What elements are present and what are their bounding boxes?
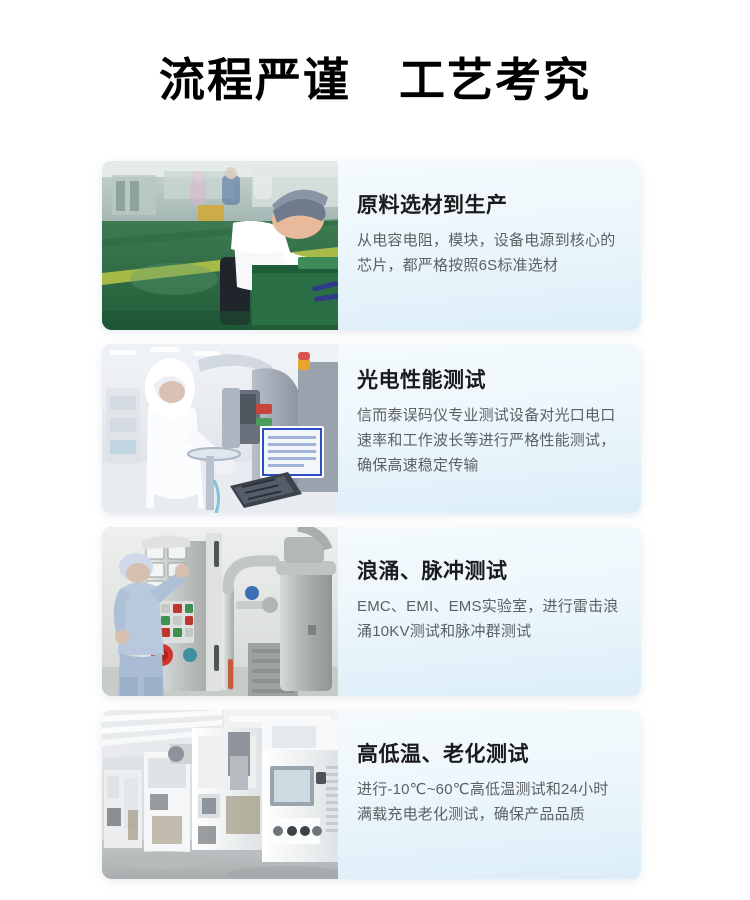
card-body: 从电容电阻，模块，设备电源到核心的芯片，都严格按照6S标准选材 bbox=[357, 228, 621, 278]
photo-surge-pulse-lab bbox=[102, 527, 338, 696]
aging-chambers-illustration bbox=[102, 710, 338, 879]
photo-assembly-line-worker bbox=[102, 161, 338, 330]
cleanroom-illustration bbox=[102, 344, 338, 513]
card-text-block: 浪涌、脉冲测试 EMC、EMI、EMS实验室，进行雷击浪涌10KV测试和脉冲群测… bbox=[338, 527, 641, 696]
card-text-block: 光电性能测试 信而泰误码仪专业测试设备对光口电口速率和工作波长等进行严格性能测试… bbox=[338, 344, 641, 513]
photo-cleanroom-optical-test bbox=[102, 344, 338, 513]
page-title: 流程严谨 工艺考究 bbox=[0, 50, 750, 110]
assembly-line-illustration bbox=[102, 161, 338, 330]
photo-aging-test-chambers bbox=[102, 710, 338, 879]
process-card-list: 原料选材到生产 从电容电阻，模块，设备电源到核心的芯片，都严格按照6S标准选材 bbox=[102, 161, 641, 879]
quality-process-page: 流程严谨 工艺考究 bbox=[0, 0, 750, 900]
card-body: 进行-10℃~60℃高低温测试和24小时满载充电老化测试，确保产品品质 bbox=[357, 777, 621, 827]
surge-lab-illustration bbox=[102, 527, 338, 696]
card-text-block: 高低温、老化测试 进行-10℃~60℃高低温测试和24小时满载充电老化测试，确保… bbox=[338, 710, 641, 879]
process-card[interactable]: 浪涌、脉冲测试 EMC、EMI、EMS实验室，进行雷击浪涌10KV测试和脉冲群测… bbox=[102, 527, 641, 696]
process-card[interactable]: 高低温、老化测试 进行-10℃~60℃高低温测试和24小时满载充电老化测试，确保… bbox=[102, 710, 641, 879]
card-body: EMC、EMI、EMS实验室，进行雷击浪涌10KV测试和脉冲群测试 bbox=[357, 594, 621, 644]
card-heading: 原料选材到生产 bbox=[357, 193, 621, 219]
card-heading: 高低温、老化测试 bbox=[357, 742, 621, 768]
card-heading: 光电性能测试 bbox=[357, 368, 621, 394]
card-body: 信而泰误码仪专业测试设备对光口电口速率和工作波长等进行严格性能测试，确保高速稳定… bbox=[357, 403, 621, 478]
card-heading: 浪涌、脉冲测试 bbox=[357, 559, 621, 585]
card-text-block: 原料选材到生产 从电容电阻，模块，设备电源到核心的芯片，都严格按照6S标准选材 bbox=[338, 161, 641, 330]
process-card[interactable]: 原料选材到生产 从电容电阻，模块，设备电源到核心的芯片，都严格按照6S标准选材 bbox=[102, 161, 641, 330]
process-card[interactable]: 光电性能测试 信而泰误码仪专业测试设备对光口电口速率和工作波长等进行严格性能测试… bbox=[102, 344, 641, 513]
